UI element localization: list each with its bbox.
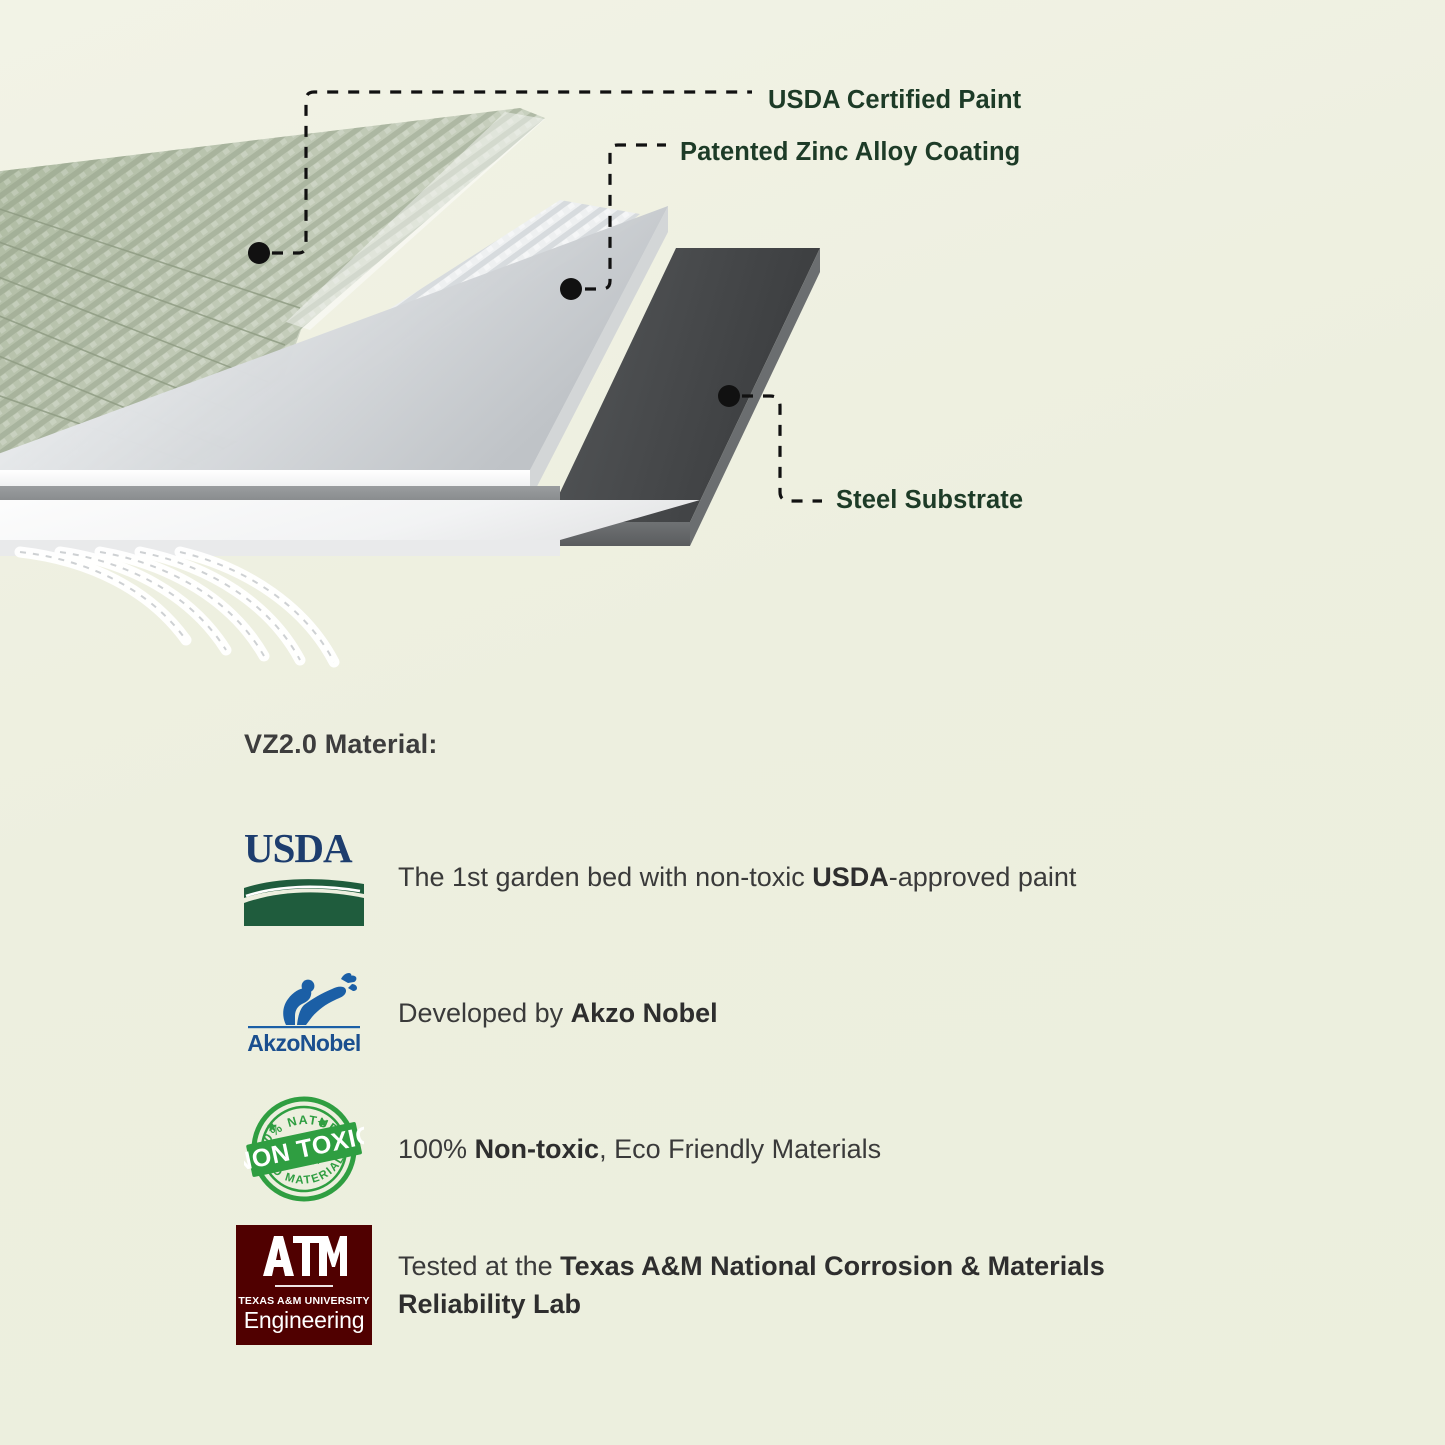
- section-title: VZ2.0 Material:: [244, 729, 438, 760]
- callout-label-paint: USDA Certified Paint: [768, 86, 1021, 115]
- connector-steel: [742, 396, 822, 501]
- feature-text-strong: Non-toxic: [475, 1134, 600, 1164]
- list-item: 100% NATURAL ECO MATERIALS: [236, 1090, 1236, 1208]
- feature-text-part: , Eco Friendly Materials: [599, 1134, 881, 1164]
- feature-text-part: 100%: [398, 1134, 475, 1164]
- non-toxic-stamp-logo: 100% NATURAL ECO MATERIALS: [236, 1094, 372, 1204]
- usda-logo: USDA: [236, 822, 372, 932]
- texas-am-division-text: Engineering: [244, 1308, 365, 1332]
- feature-text: Developed by Akzo Nobel: [398, 994, 718, 1032]
- callout-label-steel: Steel Substrate: [836, 486, 1023, 515]
- akzonobel-logo: AkzoNobel: [236, 958, 372, 1068]
- feature-text-part: The 1st garden bed with non-toxic: [398, 862, 812, 892]
- texas-am-engineering-logo: TEXAS A&M UNIVERSITY Engineering: [236, 1230, 372, 1340]
- non-toxic-stamp-icon: 100% NATURAL ECO MATERIALS: [244, 1093, 364, 1205]
- texas-am-university-text: TEXAS A&M UNIVERSITY: [238, 1295, 369, 1307]
- callout-dot-zinc: [560, 278, 582, 300]
- callout-dot-paint: [248, 242, 270, 264]
- feature-text-strong: USDA: [812, 862, 889, 892]
- feature-text: The 1st garden bed with non-toxic USDA-a…: [398, 858, 1076, 896]
- feature-text: Tested at the Texas A&M National Corrosi…: [398, 1247, 1236, 1324]
- usda-logo-wordmark: USDA: [244, 828, 364, 869]
- material-layers-diagram: USDA Certified Paint Patented Zinc Alloy…: [0, 0, 1100, 700]
- akzonobel-wordmark: AkzoNobel: [240, 1030, 368, 1057]
- feature-text-part: Developed by: [398, 998, 571, 1028]
- texas-am-block-mark: [261, 1234, 347, 1278]
- callout-dot-steel: [718, 385, 740, 407]
- feature-text: 100% Non-toxic, Eco Friendly Materials: [398, 1130, 881, 1168]
- usda-field-graphic: [244, 872, 364, 926]
- lower-peel-strips: [20, 552, 334, 662]
- feature-text-part: Tested at the: [398, 1251, 560, 1281]
- infographic-root: USDA Certified Paint Patented Zinc Alloy…: [0, 0, 1445, 1445]
- list-item: TEXAS A&M UNIVERSITY Engineering Tested …: [236, 1226, 1236, 1344]
- akzonobel-figure-icon: [240, 969, 368, 1031]
- feature-text-part: -approved paint: [889, 862, 1077, 892]
- feature-text-strong: Akzo Nobel: [571, 998, 718, 1028]
- callout-label-zinc: Patented Zinc Alloy Coating: [680, 138, 1020, 167]
- feature-list: USDA The 1st garden bed with non-toxic U…: [236, 818, 1236, 1362]
- texas-am-divider: [275, 1285, 333, 1287]
- list-item: USDA The 1st garden bed with non-toxic U…: [236, 818, 1236, 936]
- list-item: AkzoNobel Developed by Akzo Nobel: [236, 954, 1236, 1072]
- non-toxic-stamp-text: NON TOXIC: [244, 1120, 364, 1177]
